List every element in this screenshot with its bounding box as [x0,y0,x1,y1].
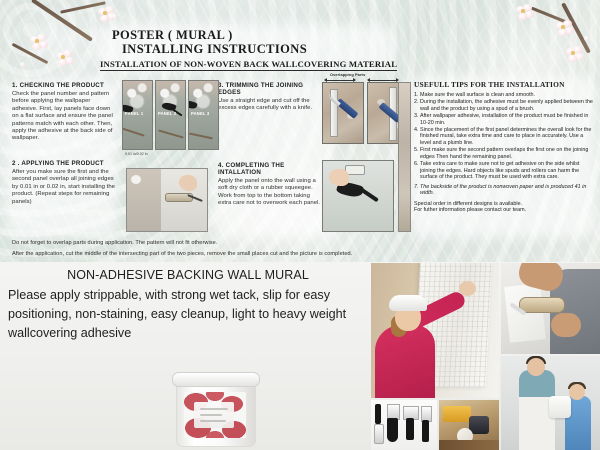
tips-list: 1.Make sure the wall surface is clean an… [414,92,594,197]
promo-text-block: NON-ADHESIVE BACKING WALL MURAL Please a… [8,268,368,343]
photo-hands-with-paint-roller [501,263,600,354]
step-3-heading: 3. TRIMMING THE JOINING EDGES [218,82,322,96]
tip-text: Make sure the wall surface is clean and … [420,92,535,98]
tip-text: After wallpaper adhesive, installation o… [420,113,588,126]
panel-2-illustration: PANEL 2 [155,80,186,150]
step-4-completing-the-installation: 4. COMPLETING THE INTALLATION Apply the … [218,162,322,208]
completing-installation-illustration [322,160,394,232]
tips-note-special-order: Special order in different designs is av… [414,201,594,208]
panel-illustration-group: PANEL 1 PANEL 2 PANEL 3 [122,80,219,150]
tip-text: Since the placement of the first panel d… [420,127,591,146]
step-3-body: Use a straight edge and cut off the exce… [218,98,322,113]
tip-number: 3. [414,113,419,120]
footer-note-overlap: Do not forget to overlap parts during ap… [12,240,217,246]
step-2-body: After you make sure the first and the se… [12,169,116,206]
step-4-heading: 4. COMPLETING THE INTALLATION [218,162,322,176]
photo-man-and-boy-applying-mural [501,356,600,450]
promo-body: Please apply strippable, with strong wet… [8,286,368,343]
tip-text: The backside of the product is nonwoven … [420,184,586,197]
title-line-2: INSTALLING INSTRUCTIONS [122,42,307,56]
tip-number: 6. [414,161,419,168]
tip-item: 3.After wallpaper adhesive, installation… [414,113,594,126]
tip-item: 7.The backside of the product is nonwove… [414,184,594,197]
step-1-body: Check the panel number and pattern befor… [12,91,116,143]
step-2-applying-the-product: 2 . APPLYING THE PRODUCT After you make … [12,160,116,206]
document-subtitle: INSTALLATION OF NON-WOVEN BACK WALLCOVER… [100,59,397,71]
applying-adhesive-illustration [126,168,208,232]
tip-text: During the installation, the adhesive mu… [420,99,593,112]
tip-item: 2.During the installation, the adhesive … [414,99,594,112]
tip-item: 1.Make sure the wall surface is clean an… [414,92,594,99]
tip-text: Take extra care to make sure not to get … [420,161,579,180]
overlap-arrow-left [325,80,355,81]
step-2-heading: 2 . APPLYING THE PRODUCT [12,160,116,167]
step-1-heading: 1. CHECKING THE PRODUCT [12,82,116,89]
promo-title: NON-ADHESIVE BACKING WALL MURAL [8,268,368,282]
footer-note-cutting: After the application, cut the middle of… [12,251,352,257]
tip-item: 5.First make sure the second pattern ove… [414,147,594,160]
installation-tips-panel: USEFULL TIPS FOR THE INSTALLATION 1.Make… [414,80,594,214]
step-4-body: Apply the panel onto the wall using a so… [218,178,322,208]
paint-roller-icon [519,297,565,313]
panel-overlap-measurement: 0.01 in/0.02 in [125,152,148,156]
photo-collage [371,263,600,450]
document-title: POSTER ( MURAL ) INSTALLING INSTRUCTIONS [112,28,307,56]
tip-number: 4. [414,127,419,134]
tips-heading: USEFULL TIPS FOR THE INSTALLATION [414,80,594,89]
tip-item: 6.Take extra care to make sure not to ge… [414,161,594,181]
overlapping-parts-label: Overlapping Parts [330,72,365,77]
trimming-illustration-1 [322,82,364,144]
trimming-illustration-group [322,82,409,144]
overlap-arrow-right [368,80,398,81]
panel-1-illustration: PANEL 1 [122,80,153,150]
tip-text: First make sure the second pattern overl… [420,147,588,160]
panel-3-label: PANEL 3 [191,111,209,116]
photo-woman-hanging-wallpaper [371,263,499,398]
tips-note-contact: For futher information please contact ou… [414,207,594,214]
panel-1-label: PANEL 1 [125,111,143,116]
instruction-sheet: POSTER ( MURAL ) INSTALLING INSTRUCTIONS… [0,0,600,450]
step-1-checking-the-product: 1. CHECKING THE PRODUCT Check the panel … [12,82,116,143]
title-line-1: POSTER ( MURAL ) [112,28,307,42]
panel-3-illustration: PANEL 3 [188,80,219,150]
tip-number: 1. [414,92,419,99]
step-3-trimming-the-joining-edges: 3. TRIMMING THE JOINING EDGES Use a stra… [218,82,322,113]
panel-2-label: PANEL 2 [158,111,176,116]
tip-number: 5. [414,147,419,154]
tip-item: 4.Since the placement of the first panel… [414,127,594,147]
photo-workbench-supplies [439,400,499,450]
mural-edge-strip [398,82,411,232]
tip-number: 2. [414,99,419,106]
adhesive-tub-image [176,372,254,446]
tip-number: 7. [414,184,419,191]
photo-wallpaper-tools [371,400,437,450]
